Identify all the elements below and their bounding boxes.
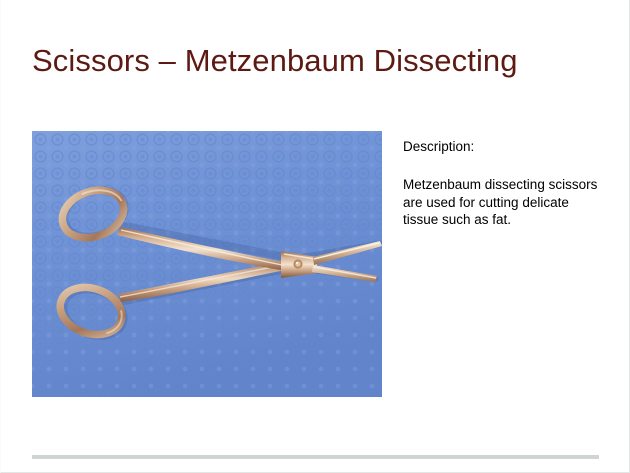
description-label: Description: bbox=[403, 138, 599, 155]
slide: Scissors – Metzenbaum Dissecting bbox=[0, 0, 630, 473]
scissors-illustration bbox=[32, 131, 382, 397]
description-body: Metzenbaum dissecting scissors are used … bbox=[403, 176, 599, 229]
metzenbaum-dissecting-scissors-photo bbox=[32, 131, 382, 397]
page-title: Scissors – Metzenbaum Dissecting bbox=[32, 42, 592, 80]
footer-divider bbox=[32, 455, 599, 459]
description-block: Description: Metzenbaum dissecting sciss… bbox=[403, 138, 599, 229]
